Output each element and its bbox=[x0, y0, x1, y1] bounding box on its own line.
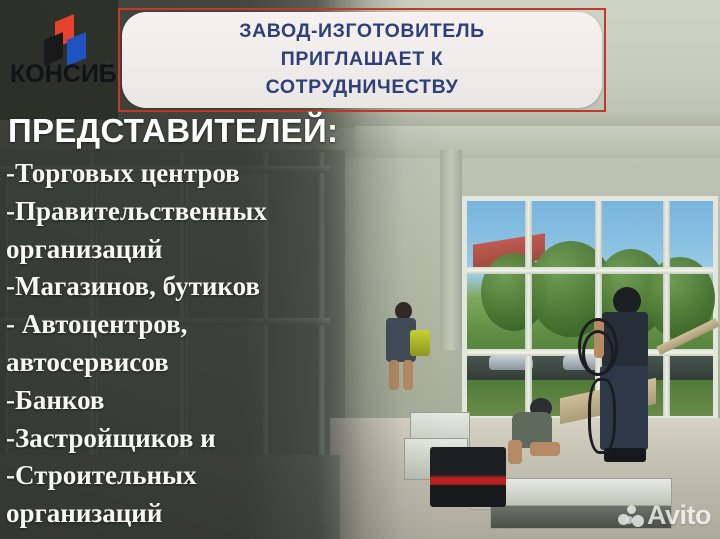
representatives-list: -Торговых центров -Правительственных орг… bbox=[6, 155, 346, 539]
list-item: -Правительственных bbox=[6, 193, 346, 231]
avito-watermark: Avito bbox=[618, 500, 711, 531]
list-item: -Магазинов, бутиков bbox=[6, 268, 346, 306]
list-item: -Дилеров и других bbox=[6, 533, 346, 539]
avito-dot-icon bbox=[627, 505, 636, 514]
list-item: -Торговых центров bbox=[6, 155, 346, 193]
list-item: - Автоцентров, bbox=[6, 306, 346, 344]
registered-trademark-icon: ® bbox=[105, 58, 111, 67]
list-item: -Банков bbox=[6, 382, 346, 420]
logo-wordmark: КОНСИБ bbox=[10, 60, 114, 89]
poster: КОНСИБ ® ЗАВОД-ИЗГОТОВИТЕЛЬ ПРИГЛАШАЕТ К… bbox=[0, 0, 720, 539]
page-title: ПРЕДСТАВИТЕЛЕЙ: bbox=[8, 112, 338, 150]
avito-dots-icon bbox=[618, 505, 644, 527]
avito-dot-icon bbox=[625, 516, 633, 524]
list-item: организаций bbox=[6, 231, 346, 269]
logo-rhombus-icon bbox=[36, 16, 92, 62]
banner-heading: ЗАВОД-ИЗГОТОВИТЕЛЬ ПРИГЛАШАЕТ К СОТРУДНИ… bbox=[239, 18, 485, 101]
list-item: -Строительных bbox=[6, 457, 346, 495]
list-item: автосервисов bbox=[6, 344, 346, 382]
list-item: организаций bbox=[6, 495, 346, 533]
avito-dot-icon bbox=[632, 515, 644, 527]
banner-panel: ЗАВОД-ИЗГОТОВИТЕЛЬ ПРИГЛАШАЕТ К СОТРУДНИ… bbox=[122, 12, 602, 108]
company-logo: КОНСИБ ® bbox=[10, 16, 114, 94]
avito-wordmark: Avito bbox=[647, 500, 711, 531]
list-item: -Застройщиков и bbox=[6, 420, 346, 458]
